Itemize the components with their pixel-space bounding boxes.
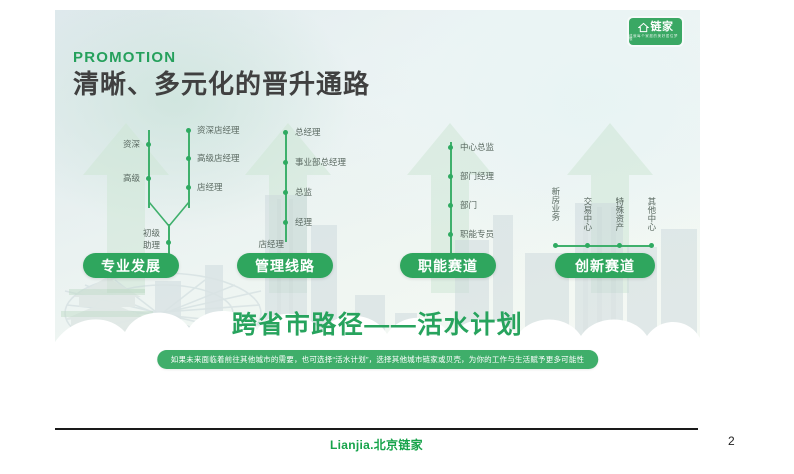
node-marker <box>585 243 590 248</box>
label-advanced: 高级 <box>102 173 140 184</box>
label-other-center: 其他中心 <box>647 197 656 231</box>
management-spine <box>285 132 287 242</box>
innovation-spine <box>555 245 651 247</box>
node-marker <box>448 145 453 150</box>
label-junior: 初级 <box>120 228 160 239</box>
node-marker <box>448 174 453 179</box>
node-marker <box>166 240 171 245</box>
node-marker <box>186 128 191 133</box>
node-marker <box>283 190 288 195</box>
track-innovation: 新房业务 交易中心 特殊资产 其他中心 <box>545 165 685 255</box>
node-marker <box>283 160 288 165</box>
label-assistant: 助理 <box>120 240 160 251</box>
functional-spine <box>450 142 452 260</box>
bottom-ribbon-text: 如果未来面临着前往其他城市的需要，也可选择“活水计划”，选择其他城市链家或贝壳，… <box>171 354 585 365</box>
page-title: 清晰、多元化的晋升通路 <box>73 70 370 99</box>
pill-professional[interactable]: 专业发展 <box>83 253 179 278</box>
node-marker <box>448 203 453 208</box>
footer-text: Lianjia.北京链家 <box>55 436 698 453</box>
label-store-manager-base: 店经理 <box>242 239 284 250</box>
branch-right-spine <box>188 130 190 208</box>
pill-management[interactable]: 管理线路 <box>237 253 333 278</box>
label-functional-staff: 职能专员 <box>460 229 494 240</box>
node-marker <box>146 142 151 147</box>
label-special-assets: 特殊资产 <box>615 197 624 231</box>
pill-functional[interactable]: 职能赛道 <box>400 253 496 278</box>
pill-management-label: 管理线路 <box>255 256 315 276</box>
label-new-home-business: 新房业务 <box>551 187 560 221</box>
footer-divider <box>55 428 698 430</box>
node-marker <box>553 243 558 248</box>
slide-canvas: PROMOTION 清晰、多元化的晋升通路 链家 成就每个家庭的美好居住梦想 资… <box>55 10 700 385</box>
label-department: 部门 <box>460 200 477 211</box>
pill-innovation-label: 创新赛道 <box>575 256 635 276</box>
logo-sub-text: 成就每个家庭的美好居住梦想 <box>629 35 682 42</box>
node-marker <box>649 243 654 248</box>
pill-functional-label: 职能赛道 <box>418 256 478 276</box>
label-general-manager: 总经理 <box>295 127 321 138</box>
logo-brand-text: 链家 <box>651 22 674 33</box>
label-trading-center: 交易中心 <box>583 197 592 231</box>
house-icon <box>638 22 649 33</box>
label-store-manager: 店经理 <box>197 182 223 193</box>
bottom-ribbon: 如果未来面临着前往其他城市的需要，也可选择“活水计划”，选择其他城市链家或贝壳，… <box>157 350 599 369</box>
label-director: 总监 <box>295 187 312 198</box>
node-marker <box>146 176 151 181</box>
label-manager: 经理 <box>295 217 312 228</box>
label-dept-manager: 部门经理 <box>460 171 494 182</box>
kicker-text: PROMOTION <box>73 50 370 65</box>
label-senior-store-manager: 资深店经理 <box>197 125 240 136</box>
lianjia-logo: 链家 成就每个家庭的美好居住梦想 <box>629 18 682 45</box>
pill-professional-label: 专业发展 <box>101 256 161 276</box>
label-center-director: 中心总监 <box>460 142 494 153</box>
label-division-gm: 事业部总经理 <box>295 157 346 168</box>
node-marker <box>448 232 453 237</box>
node-marker <box>186 185 191 190</box>
node-marker <box>283 130 288 135</box>
node-marker <box>617 243 622 248</box>
page-number: 2 <box>728 434 735 448</box>
label-senior: 资深 <box>102 139 140 150</box>
label-advanced-store-manager: 高级店经理 <box>197 153 240 164</box>
header: PROMOTION 清晰、多元化的晋升通路 <box>73 50 370 99</box>
pill-innovation[interactable]: 创新赛道 <box>555 253 655 278</box>
node-marker <box>283 220 288 225</box>
bottom-subtitle: 跨省市路径——活水计划 <box>55 305 700 341</box>
node-marker <box>186 156 191 161</box>
